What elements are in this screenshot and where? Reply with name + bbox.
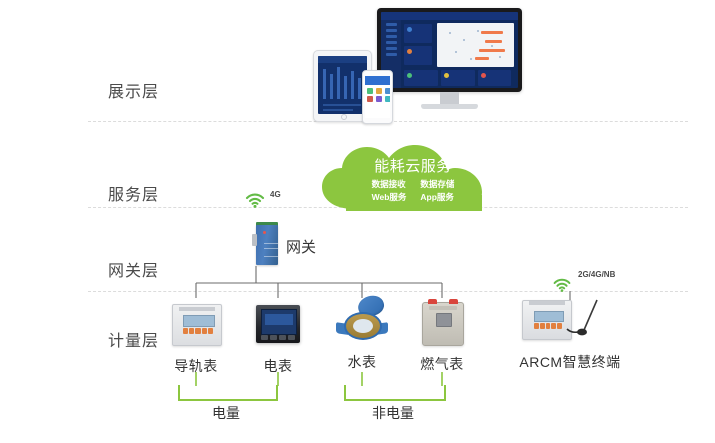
bracket-non-electric-group [344, 385, 446, 401]
monitor-device [377, 8, 522, 113]
layer-divider-gateway-metering [88, 291, 688, 292]
smartphone-screen [365, 76, 390, 118]
din-rail-meter-icon [156, 300, 236, 350]
gateway-label: 网关 [286, 236, 316, 257]
tablet-home-button [341, 114, 347, 120]
wifi-icon [552, 276, 572, 292]
architecture-diagram: 展示层 服务层 网关层 计量层 [0, 0, 715, 443]
arcm-terminal-icon: 2G/4G/NB [500, 296, 640, 346]
bracket-electric-group [178, 385, 278, 401]
layer-label-gateway: 网关层 [108, 257, 159, 281]
gateway-device-art [252, 222, 280, 266]
monitor-screen [381, 12, 518, 88]
meter-label: 燃气表 [402, 354, 482, 374]
tablet-screen [318, 56, 367, 114]
monitor-bezel [377, 8, 522, 92]
layer-label-service: 服务层 [108, 181, 159, 205]
cloud-service-list: 数据接收 Web服务 数据存储 App服务 [318, 179, 508, 202]
gas-meter-icon [402, 298, 482, 348]
antenna-icon [566, 296, 606, 342]
gateway-network-label: 4G [270, 190, 281, 199]
bracket-label-electric: 电量 [178, 403, 274, 423]
gateway-body [256, 225, 278, 265]
wifi-icon [244, 190, 266, 208]
cloud-title: 能耗云服务 [318, 155, 508, 176]
meter-label: 电表 [238, 356, 318, 376]
terminal-network-label: 2G/4G/NB [578, 270, 615, 279]
dashboard-map-card [437, 23, 514, 67]
cloud-service-column-left: 数据接收 Web服务 [372, 179, 407, 202]
cloud-service-node: 能耗云服务 数据接收 Web服务 数据存储 App服务 [318, 143, 508, 211]
monitor-stand-base [421, 104, 478, 109]
smartphone-device [362, 70, 393, 124]
monitor-stand-neck [440, 92, 459, 104]
electric-meter-icon [238, 300, 318, 350]
arcm-smart-terminal: 2G/4G/NB ARCM智慧终端 [500, 296, 640, 372]
terminal-label: ARCM智慧终端 [500, 352, 640, 372]
app-header [365, 76, 390, 85]
gateway-serial-port [252, 234, 257, 246]
meter-electric: 电表 [238, 300, 318, 376]
presentation-devices [305, 8, 535, 118]
meter-water: 水表 [322, 296, 402, 372]
meter-label: 导轨表 [156, 356, 236, 376]
water-meter-icon [322, 296, 402, 346]
app-icon-grid [367, 88, 388, 102]
layer-label-presentation: 展示层 [108, 78, 159, 102]
meter-label: 水表 [322, 352, 402, 372]
layer-label-metering: 计量层 [108, 327, 159, 351]
meter-din-rail: 导轨表 [156, 300, 236, 376]
cloud-service-column-right: 数据存储 App服务 [420, 179, 454, 202]
cloud-service-item: Web服务 [372, 192, 407, 203]
meter-gas: 燃气表 [402, 298, 482, 374]
cloud-service-item: 数据接收 [372, 179, 407, 190]
dashboard-topbar [381, 12, 518, 20]
cloud-service-item: App服务 [420, 192, 454, 203]
cloud-service-item: 数据存储 [420, 179, 454, 190]
bracket-label-non-electric: 非电量 [344, 403, 442, 423]
